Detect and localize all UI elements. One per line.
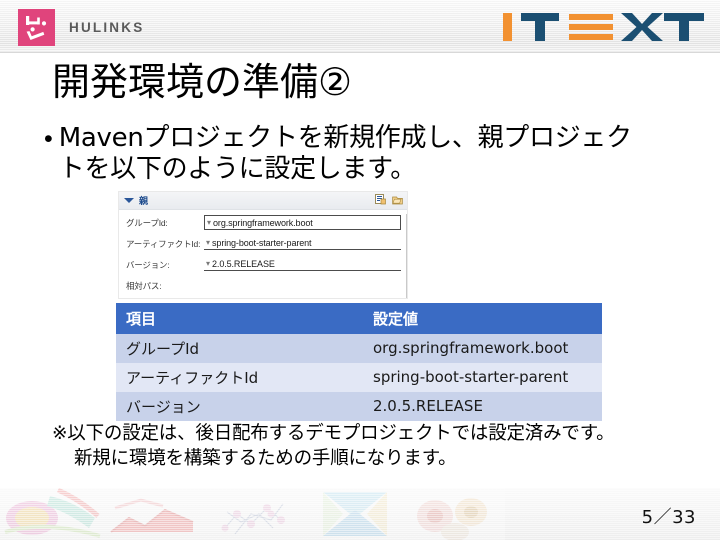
- pom-panel-divider: [406, 214, 407, 298]
- settings-table: 項目 設定値 グループId org.springframework.boot ア…: [116, 303, 602, 421]
- column-header-value: 設定値: [361, 303, 602, 334]
- table-row: グループId org.springframework.boot: [116, 334, 602, 363]
- content-assist-icon: ▾: [206, 239, 210, 247]
- open-pom-icon[interactable]: [375, 192, 386, 210]
- content-assist-icon: ▾: [207, 219, 211, 227]
- column-header-item: 項目: [116, 303, 361, 334]
- pom-field-version[interactable]: バージョン: ▾ 2.0.5.RELEASE: [126, 257, 401, 278]
- page-number: 5／33: [642, 503, 696, 529]
- table-row: バージョン 2.0.5.RELEASE: [116, 392, 602, 421]
- artifact-id-value: spring-boot-starter-parent: [212, 238, 311, 248]
- relative-path-input[interactable]: [204, 278, 401, 292]
- footer-thumb-mesh: [0, 488, 105, 540]
- footnote-line-1: ※以下の設定は、後日配布するデモプロジェクトでは設定済みです。: [52, 421, 692, 446]
- pom-field-group-id[interactable]: グループId: ▾ org.springframework.boot: [126, 215, 401, 236]
- open-parent-pom-icon[interactable]: [392, 192, 403, 210]
- pom-field-relative-path[interactable]: 相対パス:: [126, 278, 401, 299]
- bullet-text: Mavenプロジェクトを新規作成し、親プロジェクトを以下のように設定します。: [59, 123, 644, 185]
- footer-thumb-cells: [405, 488, 505, 540]
- header-divider: [0, 52, 720, 53]
- bullet-block: • Mavenプロジェクトを新規作成し、親プロジェクトを以下のように設定します。: [44, 123, 644, 185]
- cell-item: アーティファクトId: [116, 363, 361, 392]
- slide-title: 開発環境の準備②: [52, 58, 352, 106]
- footer-thumb-prism: [305, 488, 405, 540]
- chevron-down-icon[interactable]: [124, 198, 134, 203]
- cell-item: グループId: [116, 334, 361, 363]
- cell-item: バージョン: [116, 392, 361, 421]
- group-id-value: org.springframework.boot: [213, 218, 313, 228]
- footer-thumb-molecule: [205, 488, 305, 540]
- pom-editor-screenshot: 親 グループId: ▾: [118, 191, 408, 299]
- hulinks-mark-icon: [18, 9, 55, 46]
- footer-decoration-images: [0, 488, 505, 540]
- pom-section-title: 親: [139, 194, 148, 207]
- table-header-row: 項目 設定値: [116, 303, 602, 334]
- hulinks-wordmark: HULINKS: [69, 20, 144, 35]
- table-row: アーティファクトId spring-boot-starter-parent: [116, 363, 602, 392]
- slide-footer-band: 5／33: [0, 488, 720, 540]
- content-assist-icon: ▾: [206, 260, 210, 268]
- hulinks-logo: HULINKS: [18, 9, 144, 46]
- group-id-input[interactable]: ▾ org.springframework.boot: [204, 215, 401, 230]
- pom-field-label: 相対パス:: [126, 278, 204, 292]
- pom-field-label: グループId:: [126, 215, 204, 229]
- cell-value: 2.0.5.RELEASE: [361, 392, 602, 421]
- version-input[interactable]: ▾ 2.0.5.RELEASE: [204, 257, 401, 271]
- version-value: 2.0.5.RELEASE: [212, 259, 275, 269]
- artifact-id-input[interactable]: ▾ spring-boot-starter-parent: [204, 236, 401, 250]
- footnote-block: ※以下の設定は、後日配布するデモプロジェクトでは設定済みです。 新規に環境を構築…: [52, 421, 692, 471]
- pom-field-label: バージョン:: [126, 257, 204, 271]
- pom-section-header[interactable]: 親: [119, 192, 407, 210]
- itext-logo: [501, 8, 706, 46]
- pom-field-label: アーティファクトId:: [126, 236, 204, 250]
- cell-value: spring-boot-starter-parent: [361, 363, 602, 392]
- pom-field-list: グループId: ▾ org.springframework.boot アーティフ…: [119, 210, 407, 299]
- bullet-marker-icon: •: [44, 123, 53, 155]
- footer-thumb-chart: [105, 488, 205, 540]
- footnote-line-2: 新規に環境を構築するための手順になります。: [52, 446, 692, 471]
- pom-field-artifact-id[interactable]: アーティファクトId: ▾ spring-boot-starter-parent: [126, 236, 401, 257]
- cell-value: org.springframework.boot: [361, 334, 602, 363]
